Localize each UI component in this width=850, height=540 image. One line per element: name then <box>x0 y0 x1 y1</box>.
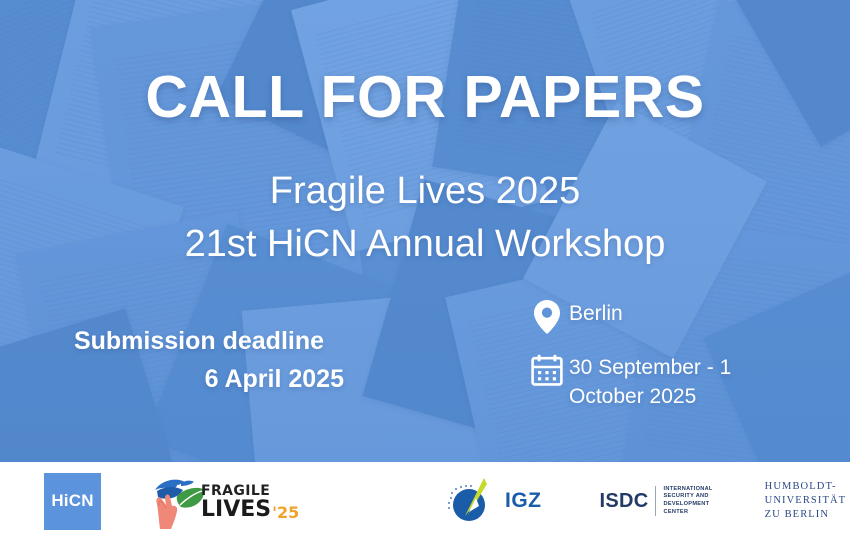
subtitle-line-1: Fragile Lives 2025 <box>0 165 850 218</box>
fragile-word: FRAGILE <box>201 484 299 498</box>
fragile-lives-year: '25 <box>272 505 299 521</box>
sponsor-logo-bar: HiCN FRAGILE <box>0 462 850 540</box>
isdc-divider <box>655 486 656 516</box>
submission-deadline-block: Submission deadline 6 April 2025 <box>54 322 344 398</box>
deadline-date: 6 April 2025 <box>54 360 344 398</box>
hicn-logo-mark: HiCN <box>44 473 101 530</box>
subtitle-line-2: 21st HiCN Annual Workshop <box>0 218 850 271</box>
isdc-tagline-line-2: SECURITY AND <box>663 493 712 501</box>
date-row: 30 September - 1 October 2025 <box>525 352 825 411</box>
event-subtitle: Fragile Lives 2025 21st HiCN Annual Work… <box>0 165 850 271</box>
isdc-wordmark: ISDC <box>600 490 649 513</box>
humboldt-line-3: ZU BERLIN <box>765 508 847 522</box>
page-title: CALL FOR PAPERS <box>0 68 850 127</box>
hicn-logo-text: HiCN <box>51 491 93 511</box>
lives-word: LIVES <box>201 499 271 521</box>
logo-humboldt: HUMBOLDT- UNIVERSITÄT ZU BERLIN HUMBOLDT… <box>765 462 850 540</box>
fragile-lives-emblem-icon <box>145 474 207 530</box>
logo-igz: IGZ <box>443 462 542 540</box>
isdc-tagline-line-3: DEVELOPMENT <box>663 501 712 509</box>
logo-hicn: HiCN <box>44 462 101 540</box>
fragile-lives-wordmark: FRAGILE LIVES '25 <box>201 484 299 521</box>
isdc-tagline-line-4: CENTER <box>663 509 712 517</box>
humboldt-wordmark: HUMBOLDT- UNIVERSITÄT ZU BERLIN <box>765 480 847 522</box>
igz-emblem-icon <box>443 476 501 526</box>
logo-fragile-lives: FRAGILE LIVES '25 <box>145 462 275 540</box>
igz-wordmark: IGZ <box>505 489 542 513</box>
location-row: Berlin <box>525 298 825 334</box>
date-text: 30 September - 1 October 2025 <box>569 352 774 411</box>
logo-isdc: ISDC INTERNATIONAL SECURITY AND DEVELOPM… <box>600 462 713 540</box>
call-for-papers-poster: CALL FOR PAPERS Fragile Lives 2025 21st … <box>0 0 850 540</box>
location-pin-icon <box>525 298 569 334</box>
location-text: Berlin <box>569 298 623 328</box>
isdc-tagline-line-1: INTERNATIONAL <box>663 486 712 494</box>
isdc-tagline: INTERNATIONAL SECURITY AND DEVELOPMENT C… <box>663 486 712 516</box>
event-details: Berlin 30 September - 1 October 2025 <box>525 298 825 429</box>
calendar-icon <box>525 352 569 386</box>
humboldt-line-1: HUMBOLDT- <box>765 480 847 494</box>
humboldt-line-2: UNIVERSITÄT <box>765 494 847 508</box>
deadline-label: Submission deadline <box>54 322 344 360</box>
